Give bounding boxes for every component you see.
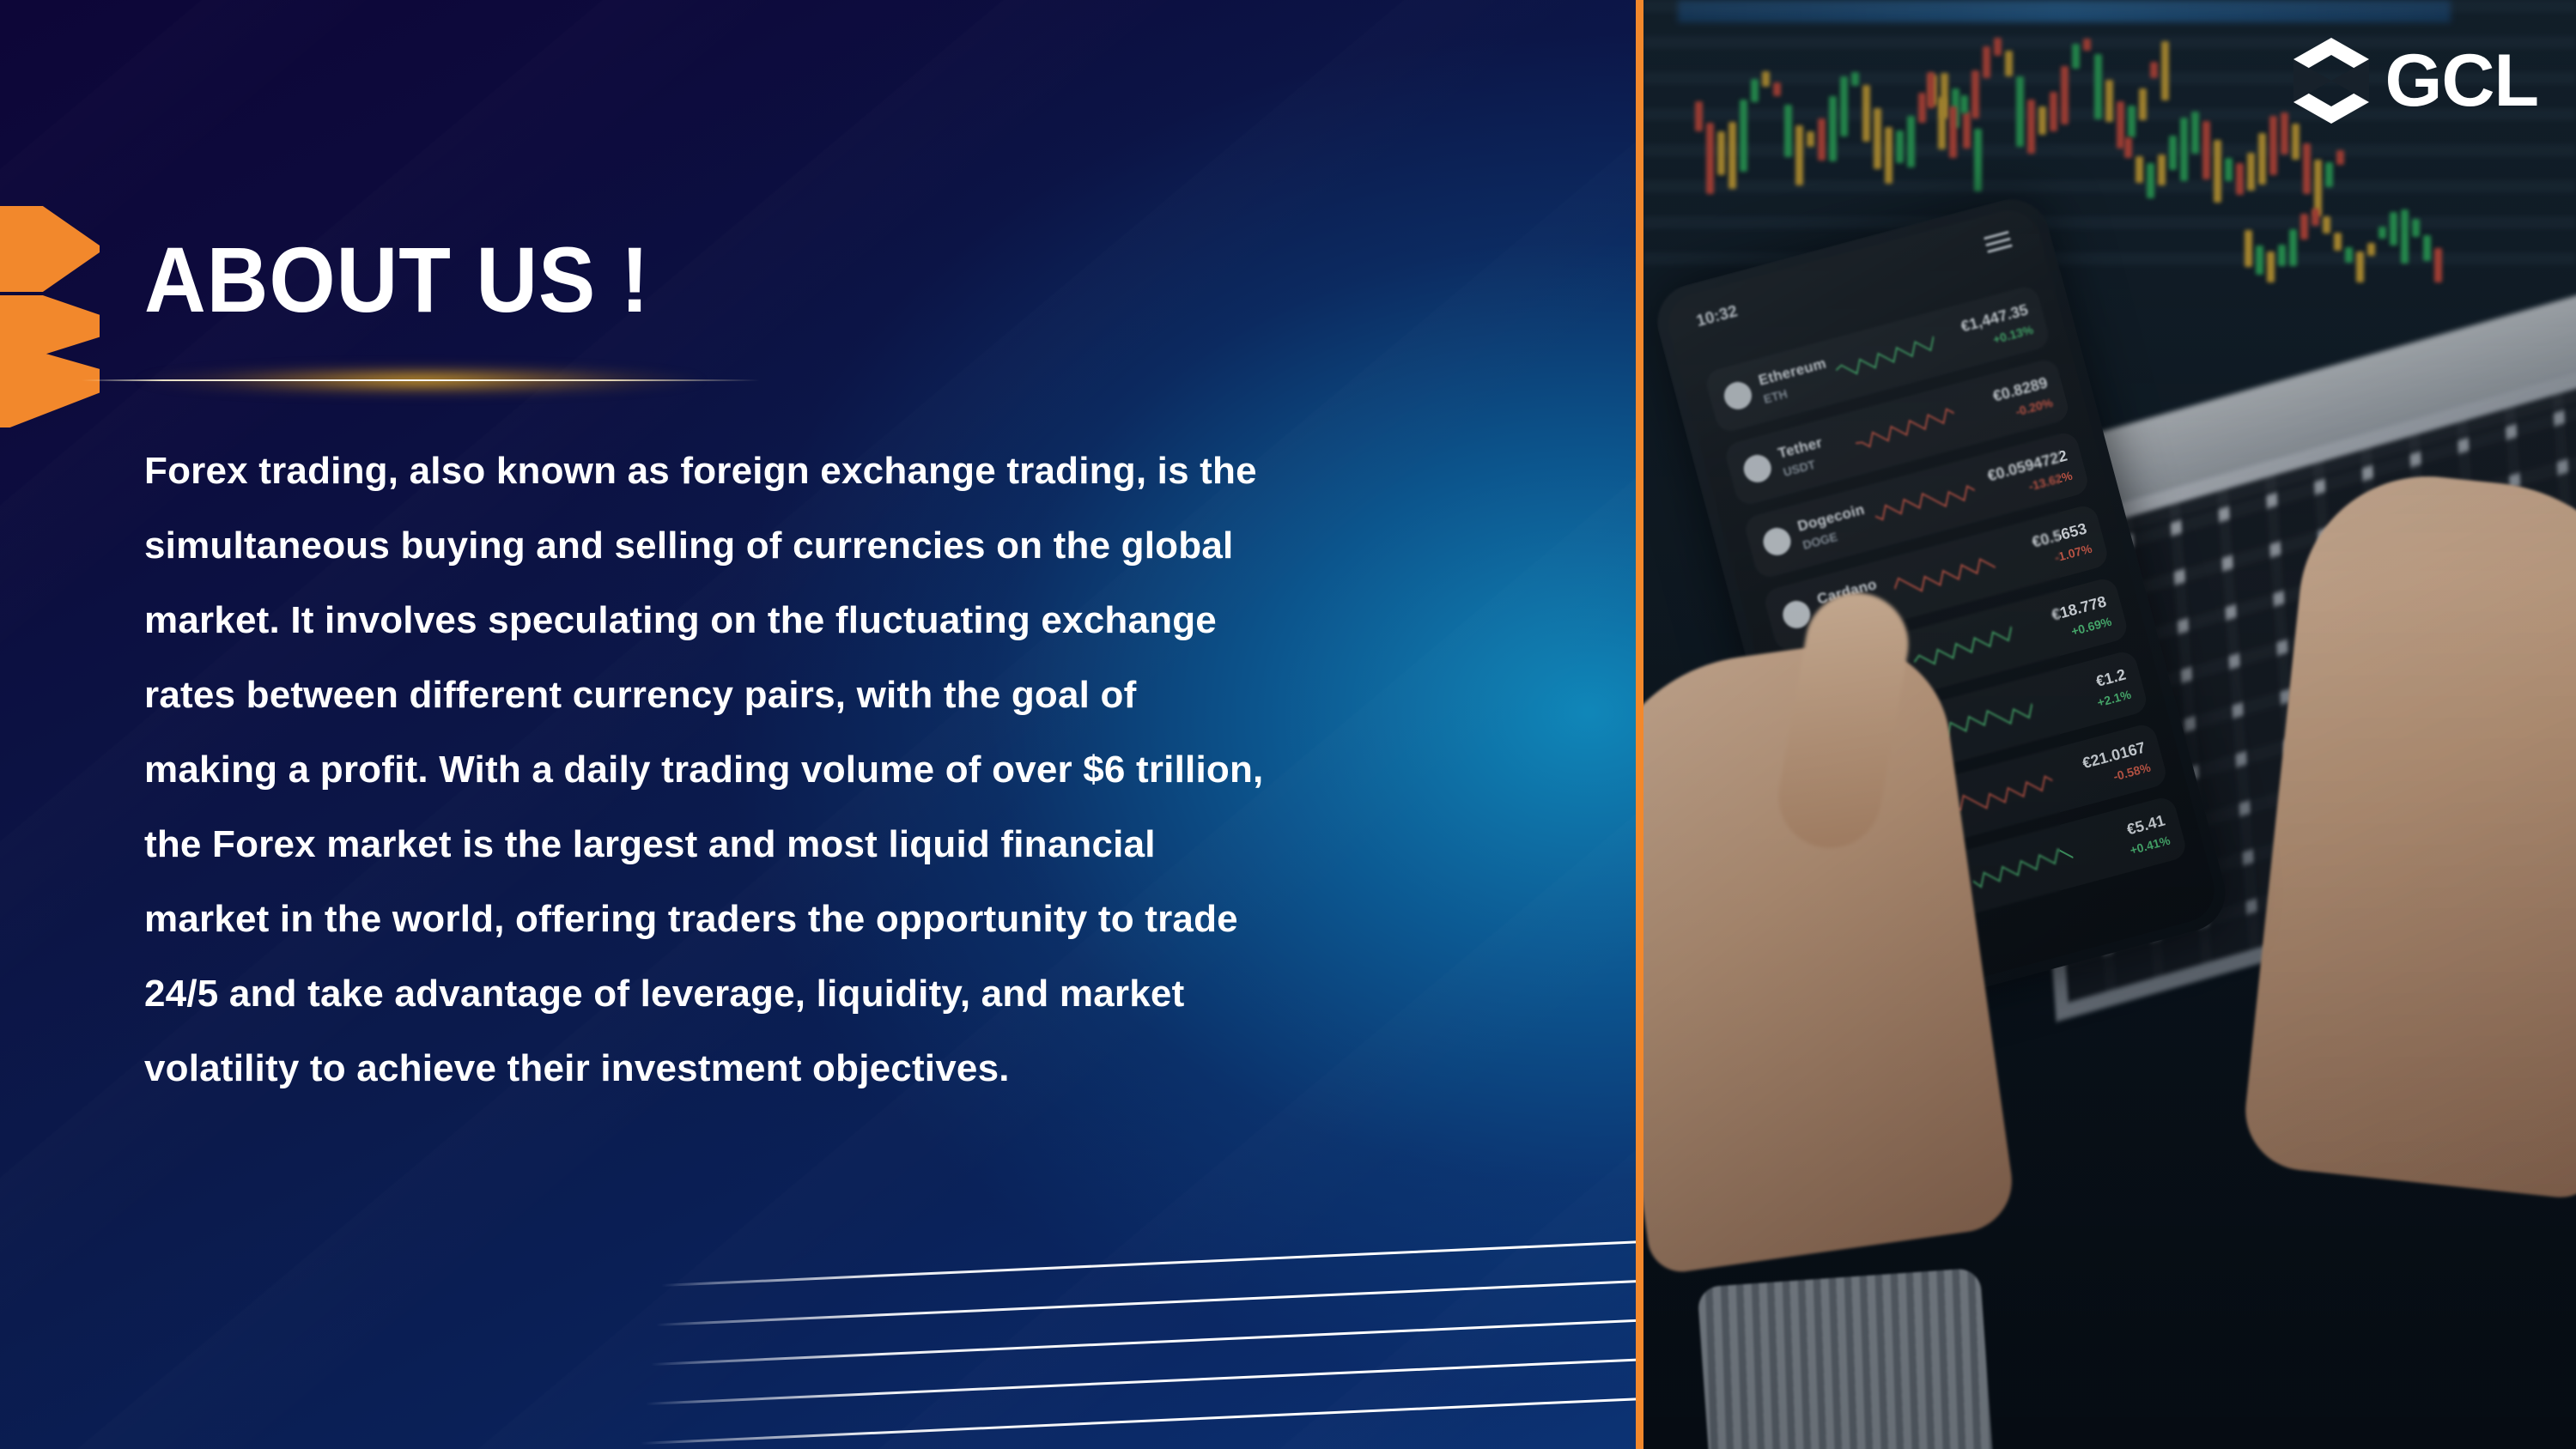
coin-name: Tether bbox=[1777, 434, 1825, 463]
hamburger-menu-icon bbox=[1984, 231, 2012, 251]
candlestick bbox=[1829, 96, 1837, 161]
paragraph-line: 24/5 and take advantage of leverage, liq… bbox=[144, 956, 1604, 1031]
candlestick bbox=[2300, 214, 2308, 239]
paragraph-line: Forex trading, also known as foreign exc… bbox=[144, 433, 1604, 508]
candlestick bbox=[2158, 155, 2166, 185]
chevron-arrow-icon bbox=[0, 206, 100, 292]
candlestick bbox=[1974, 129, 1982, 191]
candlestick bbox=[2202, 121, 2210, 179]
coin-name: Ethereum bbox=[1757, 355, 1828, 389]
candlestick bbox=[2225, 158, 2233, 182]
candlestick bbox=[2236, 163, 2244, 196]
candlestick bbox=[2434, 248, 2442, 282]
candlestick bbox=[2256, 246, 2263, 275]
candlestick bbox=[2367, 243, 2375, 257]
candlestick bbox=[1983, 46, 1990, 79]
about-us-paragraph: Forex trading, also known as foreign exc… bbox=[144, 433, 1604, 1106]
candlestick bbox=[1885, 127, 1893, 184]
candlestick bbox=[2278, 245, 2286, 266]
candlestick bbox=[2281, 112, 2288, 155]
candlestick bbox=[2083, 39, 2091, 51]
candlestick bbox=[1728, 122, 1736, 189]
candlestick bbox=[2356, 252, 2364, 282]
coin-logo-icon bbox=[1721, 379, 1754, 412]
title-underline-glow bbox=[82, 376, 760, 385]
candlestick bbox=[1949, 106, 1957, 158]
paragraph-line: market. It involves speculating on the f… bbox=[144, 583, 1604, 658]
coin-sparkline bbox=[1911, 621, 2018, 676]
candlestick bbox=[2105, 80, 2113, 122]
candlestick bbox=[1717, 131, 1725, 175]
candlestick bbox=[2038, 106, 2046, 136]
candlestick bbox=[2016, 76, 2024, 147]
candlestick bbox=[1971, 70, 1979, 118]
candlestick bbox=[2303, 143, 2311, 194]
candlestick bbox=[1706, 123, 1714, 194]
candlestick bbox=[1751, 79, 1759, 103]
coin-change-percent: +2.1% bbox=[2096, 688, 2133, 710]
candlestick bbox=[1762, 71, 1770, 87]
candlestick bbox=[1795, 125, 1803, 186]
candlestick bbox=[1896, 130, 1904, 163]
candlestick bbox=[1960, 95, 1968, 113]
candlestick bbox=[2412, 219, 2420, 238]
page-title: ABOUT US ! bbox=[144, 233, 650, 326]
candlestick bbox=[1807, 131, 1814, 147]
candlestick bbox=[2312, 209, 2319, 226]
candlestick bbox=[2267, 252, 2275, 282]
candlestick bbox=[2061, 66, 2069, 124]
brand-logo[interactable]: GCL bbox=[2290, 36, 2538, 125]
candlestick bbox=[2401, 209, 2409, 264]
coin-sparkline bbox=[1832, 330, 1940, 385]
candlestick bbox=[1938, 97, 1946, 149]
candlestick bbox=[2128, 106, 2136, 137]
candlestick bbox=[2423, 235, 2431, 261]
candlestick bbox=[1695, 101, 1703, 131]
paragraph-line: volatility to achieve their investment o… bbox=[144, 1031, 1604, 1106]
paragraph-line: simultaneous buying and selling of curre… bbox=[144, 508, 1604, 583]
candlestick bbox=[2323, 216, 2330, 233]
candlestick bbox=[2147, 163, 2154, 198]
candlestick bbox=[1963, 112, 1971, 149]
candlestick bbox=[1773, 82, 1781, 96]
candlestick bbox=[2345, 247, 2353, 263]
candlestick bbox=[1927, 72, 1935, 108]
glow-line bbox=[82, 379, 760, 381]
paragraph-line: the Forex market is the largest and most… bbox=[144, 807, 1604, 882]
candlestick bbox=[2150, 62, 2158, 78]
hexagon-diamond-logo-icon bbox=[2290, 36, 2372, 125]
candlestick bbox=[1874, 108, 1881, 169]
candlestick bbox=[2245, 230, 2252, 267]
candlestick bbox=[1851, 72, 1859, 86]
candlestick bbox=[2027, 100, 2035, 154]
candlestick bbox=[1784, 105, 1792, 157]
paragraph-line: making a profit. With a daily trading vo… bbox=[144, 732, 1604, 807]
coin-logo-icon bbox=[1760, 524, 1794, 558]
candlestick bbox=[2191, 112, 2199, 154]
candlestick bbox=[2139, 88, 2147, 120]
candlestick bbox=[1740, 100, 1747, 172]
candlestick bbox=[2292, 124, 2300, 160]
candlestick bbox=[2325, 162, 2333, 187]
brand-name: GCL bbox=[2385, 44, 2538, 118]
orange-vertical-divider bbox=[1636, 0, 1643, 1449]
paragraph-line: market in the world, offering traders th… bbox=[144, 882, 1604, 956]
candlestick bbox=[2169, 136, 2177, 169]
coin-sparkline bbox=[1969, 840, 2076, 895]
candlestick bbox=[2136, 156, 2143, 183]
coin-sparkline bbox=[1891, 549, 1998, 603]
coin-logo-icon bbox=[1741, 452, 1774, 485]
coin-sparkline bbox=[1871, 476, 1978, 530]
candlestick bbox=[2247, 153, 2255, 191]
candlestick bbox=[2161, 41, 2169, 100]
candlestick bbox=[2124, 137, 2132, 158]
candlestick bbox=[2336, 150, 2344, 165]
phone-status-time: 10:32 bbox=[1694, 302, 1740, 331]
candlestick bbox=[2334, 233, 2342, 251]
trading-photo-panel: 10:32 EthereumETH€1,447.35+0.13%TetherUS… bbox=[1643, 0, 2576, 1449]
candlestick bbox=[2289, 229, 2297, 267]
candlestick bbox=[2005, 51, 2013, 76]
candlestick bbox=[1907, 116, 1915, 167]
candlestick bbox=[2050, 92, 2057, 130]
candlestick bbox=[2117, 101, 2124, 149]
coin-price: €1.2 bbox=[2094, 666, 2128, 691]
candlestick bbox=[1862, 85, 1870, 142]
coin-sparkline bbox=[1949, 767, 2057, 822]
paragraph-line: rates between different currency pairs, … bbox=[144, 658, 1604, 732]
candlestick bbox=[2258, 133, 2266, 185]
candlestick bbox=[1918, 93, 1926, 123]
candlestick bbox=[1840, 76, 1848, 136]
candlestick bbox=[2180, 118, 2188, 180]
candlestick bbox=[1818, 118, 1826, 161]
candlestick bbox=[2072, 44, 2080, 69]
about-us-slide: ABOUT US ! Forex trading, also known as … bbox=[0, 0, 2576, 1449]
candlestick bbox=[2379, 227, 2386, 239]
candlestick bbox=[2214, 140, 2221, 202]
candlestick bbox=[2390, 212, 2397, 246]
candlestick bbox=[1994, 38, 2002, 55]
candlestick bbox=[2269, 116, 2277, 175]
chevron-arrow-icon bbox=[0, 295, 100, 361]
coin-ticker: ETH bbox=[1762, 386, 1789, 406]
coin-sparkline bbox=[1852, 403, 1959, 458]
candlestick bbox=[2094, 54, 2102, 119]
knit-sleeve-cuff bbox=[1697, 1268, 1993, 1449]
